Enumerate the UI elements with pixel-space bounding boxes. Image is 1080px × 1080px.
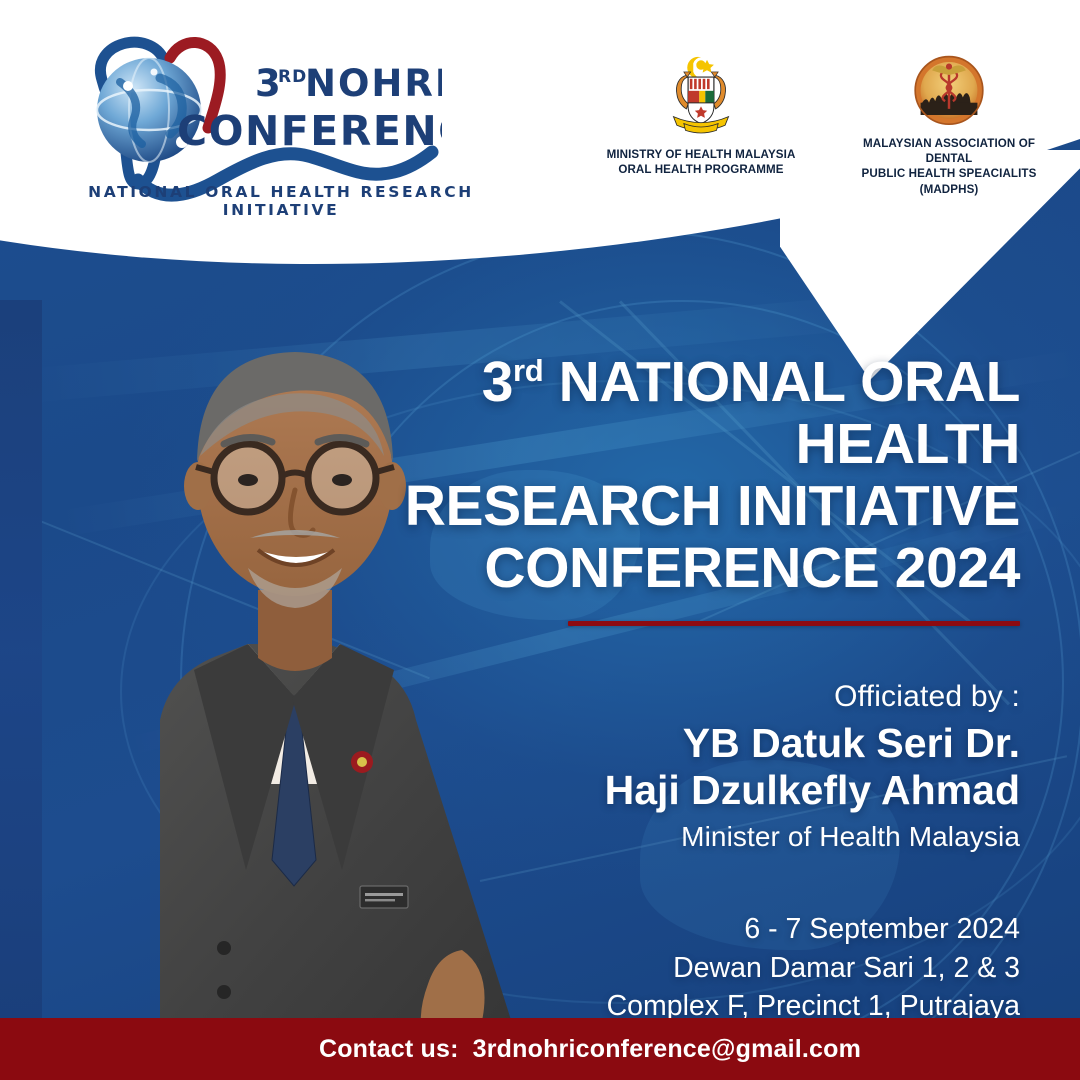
- title-line-1: 3rd NATIONAL ORAL HEALTH: [350, 352, 1020, 476]
- ministry-line-2: ORAL HEALTH PROGRAMME: [618, 163, 783, 176]
- organiser-madphs-label: MALAYSIAN ASSOCIATION OF DENTAL PUBLIC H…: [838, 136, 1060, 197]
- organiser-logos: MINISTRY OF HEALTH MALAYSIA ORAL HEALTH …: [590, 52, 1060, 197]
- madphs-emblem-icon: [906, 52, 992, 129]
- conference-poster: 3 RD NOHRI CONFERENCE 2024 NATIONAL ORAL…: [0, 0, 1080, 1080]
- poster-header: 3 RD NOHRI CONFERENCE 2024 NATIONAL ORAL…: [0, 0, 1080, 215]
- logo-edition-suffix: RD: [278, 67, 307, 87]
- logo-conference-text: CONFERENCE 2024: [177, 107, 442, 155]
- officiating-person-name: YB Datuk Seri Dr. Haji Dzulkefly Ahmad: [350, 720, 1020, 813]
- organiser-ministry-label: MINISTRY OF HEALTH MALAYSIA ORAL HEALTH …: [607, 147, 796, 178]
- madphs-line-1: MALAYSIAN ASSOCIATION OF DENTAL: [863, 137, 1035, 165]
- poster-content: 3rd NATIONAL ORAL HEALTH RESEARCH INITIA…: [350, 352, 1020, 1026]
- title-line-2: RESEARCH INITIATIVE: [350, 476, 1020, 538]
- madphs-line-2: PUBLIC HEALTH SPEACIALITS (MADPHS): [862, 167, 1037, 195]
- contact-info: Contact us: 3rdnohriconference@gmail.com: [0, 1018, 1080, 1080]
- logo-acronym-text: NOHRI: [305, 62, 442, 105]
- vip-name-line-1: YB Datuk Seri Dr.: [350, 720, 1020, 767]
- title-ordinal: 3: [482, 350, 513, 414]
- officiating-person-role: Minister of Health Malaysia: [350, 821, 1020, 853]
- title-line-1-text: NATIONAL ORAL HEALTH: [559, 350, 1020, 476]
- vip-name-line-2: Haji Dzulkefly Ahmad: [350, 767, 1020, 814]
- conference-title: 3rd NATIONAL ORAL HEALTH RESEARCH INITIA…: [350, 352, 1020, 599]
- officiated-by-label: Officiated by :: [350, 680, 1020, 714]
- event-details: 6 - 7 September 2024 Dewan Damar Sari 1,…: [350, 910, 1020, 1026]
- ministry-line-1: MINISTRY OF HEALTH MALAYSIA: [607, 148, 796, 161]
- title-divider-rule: [568, 621, 1020, 626]
- organiser-ministry-of-health: MINISTRY OF HEALTH MALAYSIA ORAL HEALTH …: [590, 52, 812, 197]
- contact-label: Contact us:: [319, 1035, 459, 1064]
- title-line-3: CONFERENCE 2024: [350, 538, 1020, 600]
- title-ordinal-suffix: rd: [513, 353, 543, 388]
- organiser-madphs: MALAYSIAN ASSOCIATION OF DENTAL PUBLIC H…: [838, 52, 1060, 197]
- nohri-logo: 3 RD NOHRI CONFERENCE 2024 NATIONAL ORAL…: [42, 20, 442, 205]
- malaysia-coat-of-arms-icon: [658, 52, 744, 140]
- event-hall: Dewan Damar Sari 1, 2 & 3: [350, 949, 1020, 988]
- nohri-tagline: NATIONAL ORAL HEALTH RESEARCH INITIATIVE: [86, 183, 476, 219]
- event-dates: 6 - 7 September 2024: [350, 910, 1020, 949]
- contact-email[interactable]: 3rdnohriconference@gmail.com: [473, 1035, 861, 1064]
- nohri-logo-graphic: 3 RD NOHRI CONFERENCE 2024: [42, 20, 442, 205]
